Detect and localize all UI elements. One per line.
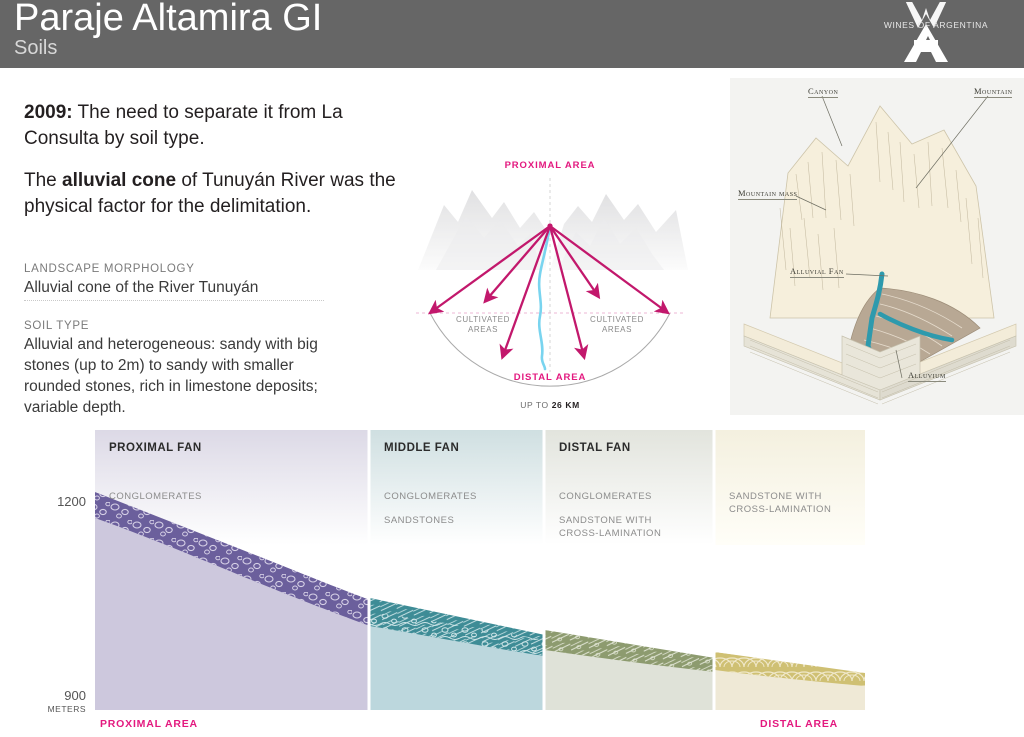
zone-panel-proximal-fan: PROXIMAL FAN CONGLOMERATES — [95, 430, 368, 710]
landscape-morphology-label: LANDSCAPE MORPHOLOGY — [24, 263, 195, 275]
zone-title-proximal-fan: PROXIMAL FAN — [109, 442, 202, 454]
cross-section-chart: 1200 900 METERS — [0, 430, 1024, 737]
zone-title-middle-fan: MIDDLE FAN — [384, 442, 459, 454]
zone-item-sandstone-0: SANDSTONE WITH CROSS-LAMINATION — [729, 490, 849, 516]
zone-panel-sandstone: SANDSTONE WITH CROSS-LAMINATION — [715, 430, 865, 710]
zone-item-middle-1: SANDSTONES — [384, 514, 454, 527]
wines-of-argentina-logo: WINES OF ARGENTINA — [870, 2, 1002, 64]
alluvial-fan-diagram: PROXIMAL AREA DISTAL AREA CULTIVATED ARE… — [400, 150, 700, 425]
paragraph-2009-rest: The need to separate it from La Consulta… — [24, 102, 343, 149]
chart-proximal-area-label: PROXIMAL AREA — [100, 718, 198, 730]
zone-item-distal-1: SANDSTONE WITH CROSS-LAMINATION — [559, 514, 689, 540]
page-header: Paraje Altamira GI Soils WINES OF ARGENT… — [0, 0, 1024, 68]
zone-title-distal-fan: DISTAL FAN — [559, 442, 631, 454]
paragraph-alluvial-cone: The alluvial cone of Tunuyán River was t… — [24, 168, 399, 220]
paragraph-2009: 2009: The need to separate it from La Co… — [24, 100, 399, 152]
landscape-morphology-value: Alluvial cone of the River Tunuyán — [24, 277, 324, 298]
zone-item-proximal-0: CONGLOMERATES — [109, 490, 202, 503]
block-label-mountain: Mountain — [974, 86, 1012, 98]
zone-item-middle-0: CONGLOMERATES — [384, 490, 477, 503]
soil-type-value: Alluvial and heterogeneous: sandy with b… — [24, 334, 324, 418]
block-label-alluvium: Alluvium — [908, 370, 946, 382]
block-label-alluvial-fan: Alluvial Fan — [790, 266, 844, 278]
chart-distal-area-label: DISTAL AREA — [760, 718, 838, 730]
logo-text: WINES OF ARGENTINA — [870, 20, 1002, 30]
paragraph-2009-lead: 2009: — [24, 102, 73, 123]
soil-type-label: SOIL TYPE — [24, 320, 89, 332]
page-subtitle: Soils — [14, 36, 57, 60]
zone-panel-distal-fan: DISTAL FAN CONGLOMERATES SANDSTONE WITH … — [545, 430, 713, 710]
paragraph-alluvial-pre: The — [24, 170, 62, 191]
page-title: Paraje Altamira GI — [14, 0, 322, 40]
paragraph-alluvial-bold: alluvial cone — [62, 170, 176, 191]
zone-panel-middle-fan: MIDDLE FAN CONGLOMERATES SANDSTONES — [370, 430, 543, 710]
block-label-mountain-mass: Mountain mass — [738, 188, 797, 200]
zone-item-distal-0: CONGLOMERATES — [559, 490, 652, 503]
block-label-canyon: Canyon — [808, 86, 838, 98]
block-diagram: Canyon Mountain Mountain mass Alluvial F… — [730, 78, 1024, 415]
section-divider — [24, 300, 324, 301]
